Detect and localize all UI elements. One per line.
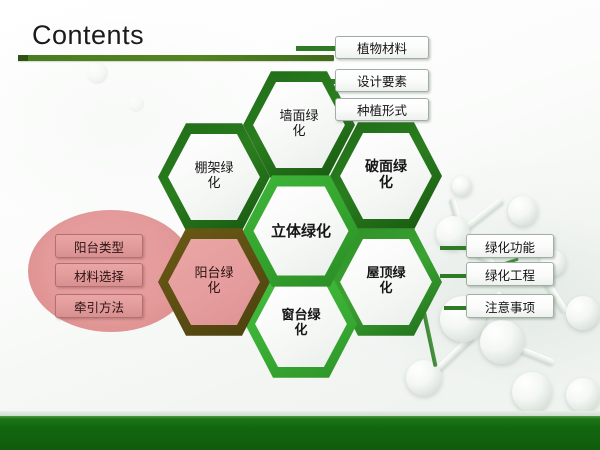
callout-traction-method[interactable]: 牵引方法 (55, 294, 143, 318)
callout-greening-project[interactable]: 绿化工程 (466, 262, 554, 286)
callout-balcony-type[interactable]: 阳台类型 (55, 234, 143, 258)
page-title: Contents (32, 20, 144, 51)
title-underline (18, 55, 334, 61)
callout-planting-form-label: 种植形式 (357, 100, 407, 119)
callout-traction-method-label: 牵引方法 (74, 297, 124, 316)
callout-material-selection-label: 材料选择 (74, 266, 124, 285)
background-bubble-left (86, 62, 108, 84)
callout-precautions[interactable]: 注意事项 (466, 294, 554, 318)
bottom-bar-top-edge (0, 416, 600, 419)
slide-canvas: Contents 墙面绿 化 棚架绿 化 破面绿 化 屋顶绿 化 (0, 0, 600, 450)
callout-plant-material-label: 植物材料 (357, 38, 407, 57)
background-bubble-left-2 (128, 96, 144, 112)
callout-plant-material[interactable]: 植物材料 (335, 36, 429, 59)
bottom-bar (0, 416, 600, 450)
callout-precautions-label: 注意事项 (485, 297, 535, 316)
callout-design-elements[interactable]: 设计要素 (335, 69, 429, 92)
callout-design-elements-label: 设计要素 (357, 71, 407, 90)
callout-greening-project-label: 绿化工程 (485, 265, 535, 284)
hex-vertical-greening-center[interactable]: 立体绿化 (243, 173, 359, 289)
callout-planting-form[interactable]: 种植形式 (335, 98, 429, 121)
callout-greening-function[interactable]: 绿化功能 (466, 234, 554, 258)
title-underline-cap (18, 55, 28, 61)
callout-balcony-type-label: 阳台类型 (74, 237, 124, 256)
hex-vertical-greening-center-label: 立体绿化 (243, 173, 359, 289)
connector-top-1 (296, 46, 340, 51)
callout-greening-function-label: 绿化功能 (485, 237, 535, 256)
callout-material-selection[interactable]: 材料选择 (55, 263, 143, 287)
